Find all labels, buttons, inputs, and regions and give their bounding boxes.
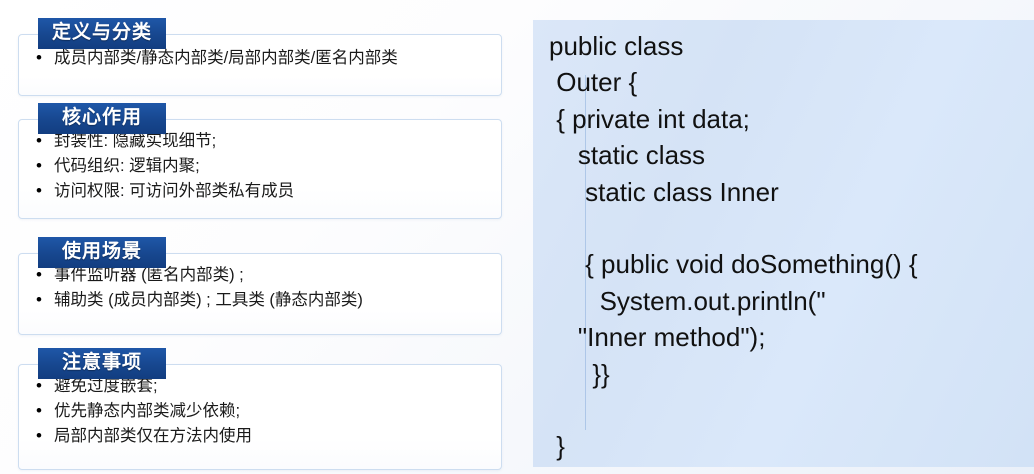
code-line-blank <box>549 210 1034 246</box>
section-use-cases: 使用场景 事件监听器 (匿名内部类) ; 辅助类 (成员内部类) ; 工具类 (… <box>18 237 502 321</box>
list-item: 优先静态内部类减少依赖; <box>32 399 490 424</box>
section-badge-use-cases: 使用场景 <box>38 237 166 268</box>
section-core-purpose: 核心作用 封装性: 隐藏实现细节; 代码组织: 逻辑内聚; 访问权限: 可访问外… <box>18 103 502 212</box>
section-cautions: 注意事项 避免过度嵌套; 优先静态内部类减少依赖; 局部内部类仅在方法内使用 <box>18 348 502 457</box>
list-item: 代码组织: 逻辑内聚; <box>32 154 490 179</box>
section-definition-and-classification: 定义与分类 成员内部类/静态内部类/局部内部类/匿名内部类 <box>18 18 502 79</box>
list-item: 访问权限: 可访问外部类私有成员 <box>32 179 490 204</box>
list-item: 辅助类 (成员内部类) ; 工具类 (静态内部类) <box>32 288 490 313</box>
code-line: }} <box>549 356 1034 392</box>
section-badge-definition-and-classification: 定义与分类 <box>38 18 166 49</box>
list-item: 局部内部类仅在方法内使用 <box>32 424 490 449</box>
code-line: Outer { <box>549 64 1034 100</box>
code-line-blank <box>549 392 1034 428</box>
section-badge-cautions: 注意事项 <box>38 348 166 379</box>
list-item: 成员内部类/静态内部类/局部内部类/匿名内部类 <box>32 46 490 71</box>
code-line: } <box>549 428 1034 464</box>
code-line: "Inner method"); <box>549 319 1034 355</box>
code-sample-panel: public class Outer { { private int data;… <box>533 20 1034 467</box>
code-line: System.out.println(" <box>549 283 1034 319</box>
code-line: static class Inner <box>549 174 1034 210</box>
code-block: public class Outer { { private int data;… <box>533 28 1034 465</box>
code-line: { private int data; <box>549 101 1034 137</box>
concept-summary-panel: 定义与分类 成员内部类/静态内部类/局部内部类/匿名内部类 核心作用 封装性: … <box>0 0 518 474</box>
code-line: static class <box>549 137 1034 173</box>
code-line: public class <box>549 28 1034 64</box>
code-line: { public void doSomething() { <box>549 246 1034 282</box>
section-badge-core-purpose: 核心作用 <box>38 103 166 134</box>
